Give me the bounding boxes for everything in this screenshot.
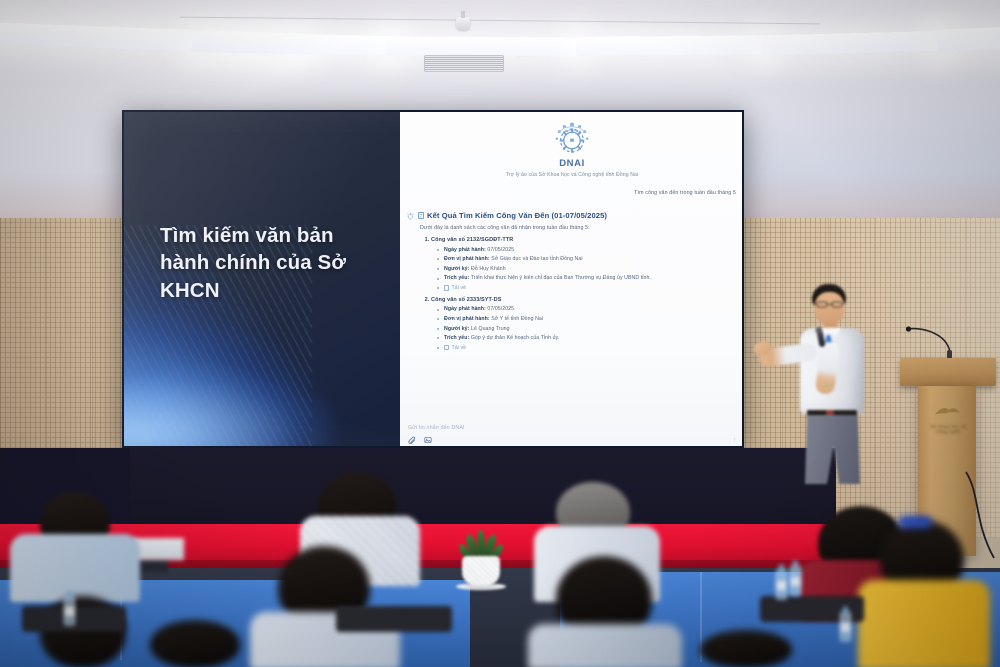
document-fields: Ngày phát hành: 07/05/2025 Đơn vị phát h… (437, 247, 736, 293)
field-value: Góp ý dự thảo Kế hoạch của Tỉnh ủy. (471, 335, 560, 341)
audience-member-body (858, 580, 990, 667)
list-item: Công văn số 2132/SGDĐT-TTR Ngày phát hàn… (431, 237, 736, 293)
presenter-speaking (760, 284, 894, 484)
audience-member-body (10, 534, 140, 602)
field-label: Ngày phát hành: (444, 247, 486, 253)
field-label: Trích yếu: (444, 275, 469, 281)
response-lead: Dưới đây là danh sách các công văn đã nh… (420, 225, 736, 231)
audience-member-head (700, 630, 792, 667)
field-value: 07/05/2025 (487, 306, 514, 312)
document-number: Công văn số 2132/SGDĐT-TTR (431, 237, 513, 243)
app-branding: DNAI Trợ lý ảo của Sở Khoa học và Công n… (400, 110, 744, 178)
audience-chair (336, 606, 452, 632)
document-download-row[interactable]: Tải về (437, 285, 736, 293)
presenter-trousers (805, 415, 860, 484)
eyeglasses-icon (816, 301, 843, 308)
document-number: Công văn số 2333/SYT-DS (431, 297, 501, 303)
download-label[interactable]: Tải về (452, 285, 467, 291)
air-conditioning-vent (424, 55, 504, 72)
podium-text: Sở Khoa học và Công nghệ (924, 424, 972, 434)
water-bottle (776, 570, 787, 600)
water-bottle (64, 596, 75, 626)
slide-title-panel: Tìm kiếm văn bản hành chính của Sở KHCN (122, 110, 400, 448)
image-icon[interactable] (424, 436, 432, 444)
field-label: Người ký: (444, 326, 469, 332)
ceiling-light-panel (761, 31, 945, 55)
document-field: Ngày phát hành: 07/05/2025 (437, 247, 736, 253)
response-header: Kết Quả Tìm Kiếm Công Văn Đến (01-07/05/… (427, 211, 607, 220)
app-name: DNAI (400, 158, 744, 169)
field-value: Triển khai thực hiện ý kiến chỉ đạo của … (471, 275, 651, 281)
field-label: Người ký: (444, 266, 469, 272)
field-value: 07/05/2025 (487, 247, 514, 253)
audience-member-head (150, 620, 240, 667)
document-download-row[interactable]: Tải về (437, 345, 736, 353)
presenter-wristwatch (823, 384, 833, 388)
document-field: Người ký: Lê Quang Trung (437, 326, 736, 332)
document-field: Đơn vị phát hành: Sở Y tế tỉnh Đồng Nai (437, 316, 736, 322)
gear-network-logo-icon (553, 119, 591, 157)
field-label: Đơn vị phát hành: (444, 316, 490, 322)
gear-network-logo-icon (406, 212, 415, 221)
audience-member-body (528, 624, 682, 667)
hair-tie (898, 516, 932, 528)
presenter-head (815, 292, 844, 325)
institution-emblem-icon (932, 405, 962, 421)
field-value: Sở Giáo dục và Đào tạo tỉnh Đồng Nai (491, 256, 582, 262)
field-value: Đỗ Huy Khánh (471, 266, 506, 272)
slide-title: Tìm kiếm văn bản hành chính của Sở KHCN (160, 222, 386, 304)
projection-screen: Tìm kiếm văn bản hành chính của Sở KHCN (122, 110, 744, 448)
document-fields: Ngày phát hành: 07/05/2025 Đơn vị phát h… (437, 306, 736, 352)
send-arrow-icon[interactable]: ↑ (733, 437, 737, 444)
ceiling-seam (180, 17, 820, 25)
paperclip-icon[interactable] (408, 436, 416, 444)
document-field: Trích yếu: Góp ý dự thảo Kế hoạch của Tỉ… (437, 335, 736, 341)
field-label: Đơn vị phát hành: (444, 256, 490, 262)
app-subtitle: Trợ lý ảo của Sở Khoa học và Công nghệ t… (400, 172, 744, 178)
gooseneck-microphone-icon (906, 326, 956, 360)
water-bottle (840, 612, 851, 642)
message-composer[interactable]: Gửi tin nhắn đến DNAI ↑ (408, 425, 736, 444)
document-field: Trích yếu: Triển khai thực hiện ý kiến c… (437, 275, 736, 281)
assistant-message: Kết Quả Tìm Kiếm Công Văn Đến (01-07/05/… (406, 211, 744, 356)
podium-top (900, 358, 996, 386)
chat-app-panel: DNAI Trợ lý ảo của Sở Khoa học và Công n… (400, 110, 744, 448)
document-field: Đơn vị phát hành: Sở Giáo dục và Đào tạo… (437, 256, 736, 262)
document-result-list: Công văn số 2132/SGDĐT-TTR Ngày phát hàn… (431, 237, 736, 352)
ceiling-light-panel (386, 36, 579, 56)
message-input-placeholder[interactable]: Gửi tin nhắn đến DNAI (408, 425, 736, 431)
document-field: Người ký: Đỗ Huy Khánh (437, 266, 736, 272)
ceiling-light-panel (576, 35, 767, 56)
download-label[interactable]: Tải về (452, 345, 467, 351)
user-message: Tìm công văn đến trong tuần đầu tháng 5 (400, 190, 736, 196)
download-file-icon (444, 345, 449, 351)
field-value: Lê Quang Trung (471, 326, 510, 332)
document-icon (418, 212, 424, 219)
smoke-detector-icon (456, 17, 470, 30)
microphone-cable (964, 470, 1000, 560)
ceiling-light-panel (934, 26, 1000, 51)
water-bottle (790, 566, 801, 596)
field-value: Sở Y tế tỉnh Đồng Nai (491, 316, 543, 322)
document-field: Ngày phát hành: 07/05/2025 (437, 306, 736, 312)
field-label: Ngày phát hành: (444, 306, 486, 312)
download-file-icon (444, 285, 449, 291)
ceiling-light-panel (191, 32, 393, 56)
conference-hall-photo: Tìm kiếm văn bản hành chính của Sở KHCN (0, 0, 1000, 667)
plant-pot (462, 556, 500, 586)
list-item: Công văn số 2333/SYT-DS Ngày phát hành: … (431, 297, 736, 353)
field-label: Trích yếu: (444, 335, 469, 341)
